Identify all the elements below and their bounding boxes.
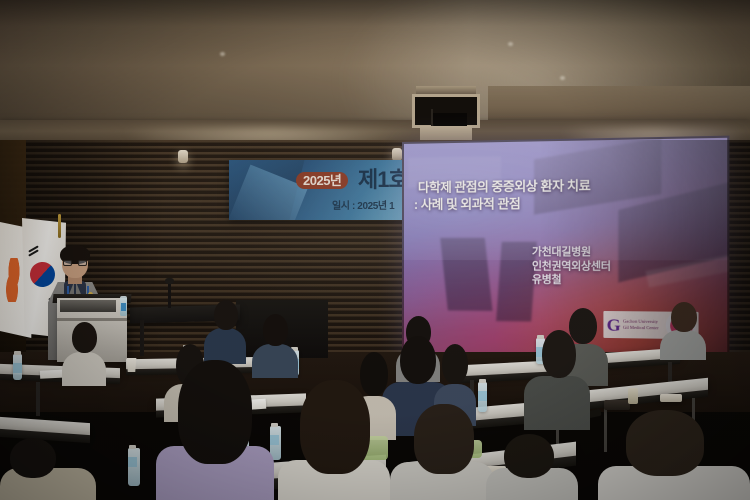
eyeglasses-icon	[63, 260, 87, 266]
projector-icon	[410, 86, 482, 142]
ceiling-fixture-dot	[560, 76, 565, 80]
audience-person	[0, 438, 96, 500]
audience-person	[62, 322, 106, 382]
audience-person	[660, 302, 706, 358]
ceiling-fixture-dot	[220, 52, 225, 56]
audience-person	[390, 404, 494, 500]
flag-pole	[58, 214, 61, 238]
water-bottle	[128, 448, 140, 486]
conference-hall-photo: 2025년 제1호 일시 : 2025년 1 포지 의사회 다학제 관점의 중증…	[0, 0, 750, 500]
lunch-box	[604, 400, 630, 410]
organization-flag-emblem	[4, 258, 24, 302]
audience-person	[598, 410, 750, 500]
audience-person	[156, 360, 274, 500]
audience-person	[278, 380, 390, 500]
paper-cup	[126, 358, 137, 372]
water-bottle	[13, 354, 22, 380]
lunch-box	[660, 394, 682, 402]
audience-person	[524, 330, 590, 426]
ceiling-fixture-dot	[508, 42, 513, 46]
beverage-can	[628, 388, 638, 404]
audience-person	[486, 434, 578, 500]
audience-area	[0, 300, 750, 500]
